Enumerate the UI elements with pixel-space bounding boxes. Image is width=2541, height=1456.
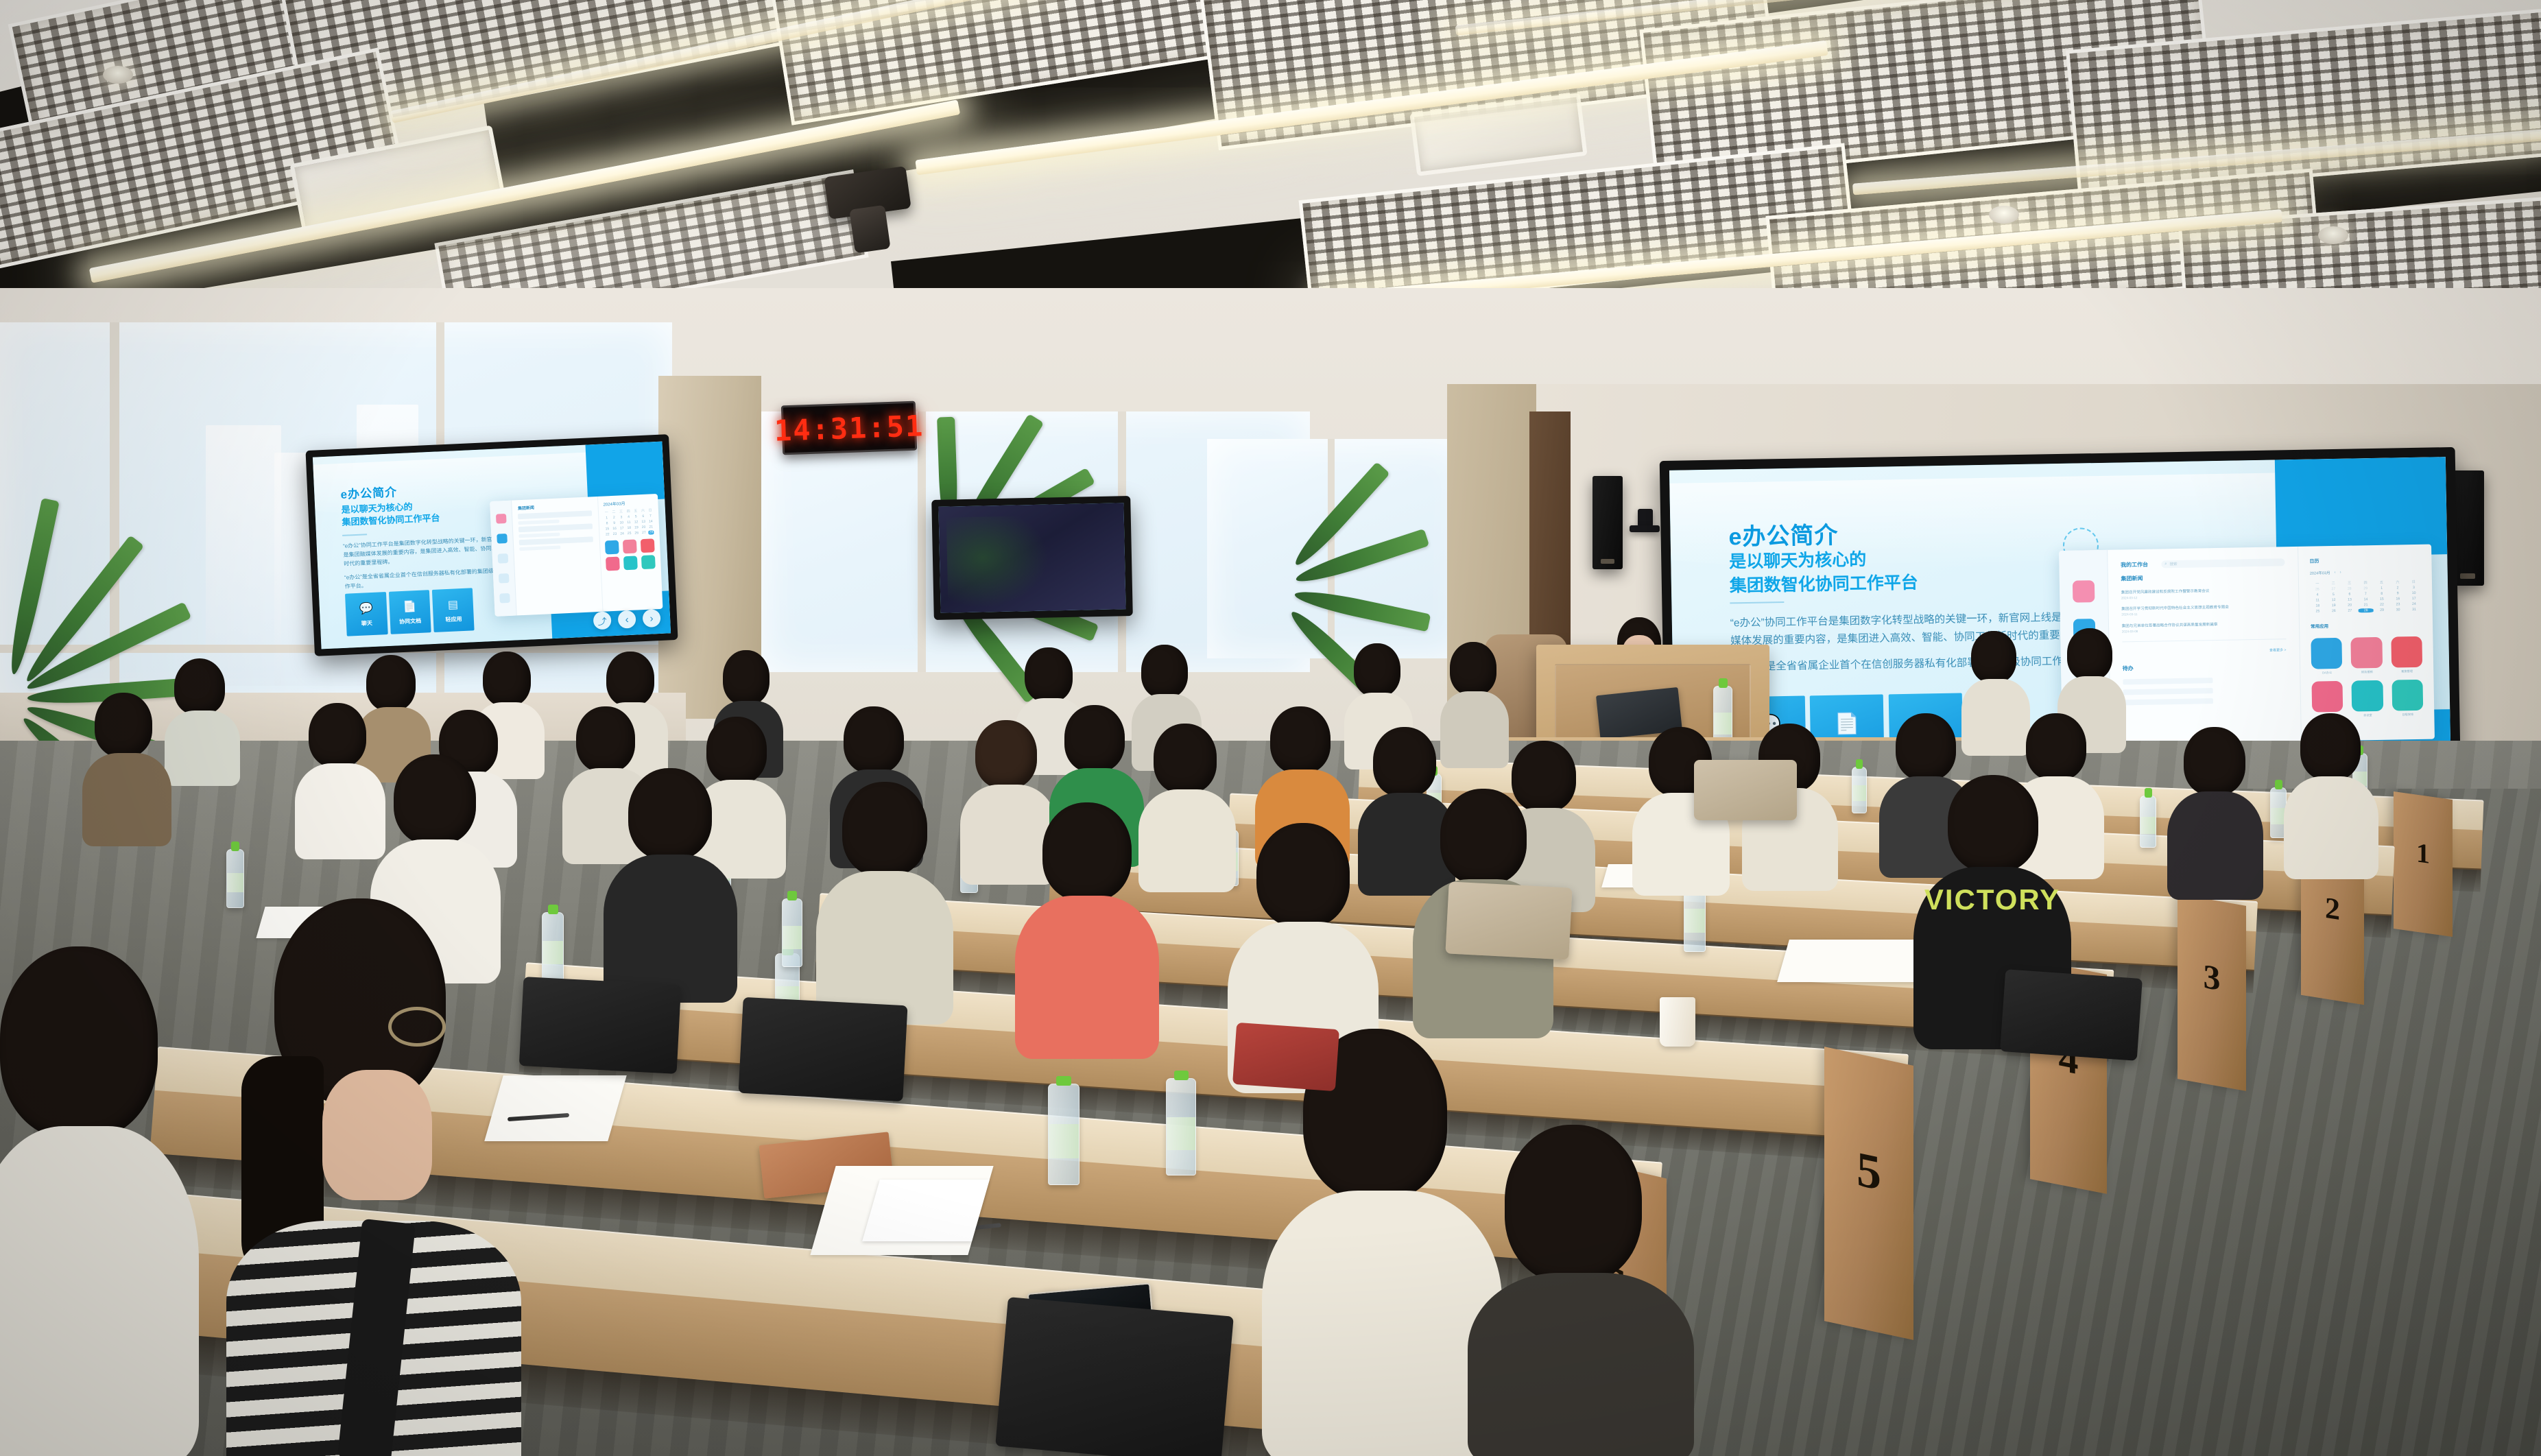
- desk-end-1: 1: [2394, 791, 2453, 937]
- more-news-link[interactable]: 查看更多 >: [2122, 647, 2286, 655]
- app-shortcut[interactable]: 会议室: [2352, 680, 2383, 718]
- face-profile: [322, 1070, 432, 1200]
- app-shortcut-label: 日程安排: [2392, 713, 2423, 717]
- slide-subtitle-line1: 是以聊天为核心的: [1729, 547, 1918, 574]
- chair-back: [1445, 881, 1572, 959]
- ceiling-camera: [1638, 509, 1653, 527]
- audience-member: [2284, 713, 2378, 878]
- calendar-month: 2024年03月: [603, 499, 653, 507]
- app-shortcut[interactable]: [641, 555, 656, 569]
- app-shortcut-label: 差旅管理: [2391, 669, 2422, 674]
- red-chair: [1232, 1023, 1339, 1091]
- workspace-label: 我的工作台: [2121, 560, 2148, 569]
- calendar-grid[interactable]: 一二三四五六日 26272829123 45678910 11121314151…: [2310, 580, 2422, 614]
- app-shortcut[interactable]: [623, 556, 638, 570]
- news-heading: 集团新闻: [518, 501, 592, 511]
- rail-avatar[interactable]: [496, 514, 506, 524]
- slide-feature-tiles: 💬 聊天 📄 协同文档 ▤ 轻应用: [345, 588, 475, 636]
- chair-back: [995, 1297, 1234, 1456]
- calendar-prev-icon[interactable]: ‹: [2335, 571, 2336, 575]
- downlight: [2318, 226, 2348, 244]
- audience-member: [165, 658, 240, 782]
- water-bottle: [782, 898, 802, 967]
- downlight: [1989, 206, 2019, 224]
- rail-icon-contacts[interactable]: [500, 593, 510, 604]
- calendar-heading: 日历: [2309, 556, 2420, 565]
- water-bottle: [542, 912, 564, 983]
- left-monitor-slide: e办公简介 是以聊天为核心的 集团数智化协同工作平台 “e办公”协同工作平台是集…: [313, 442, 671, 649]
- chair-back: [1694, 760, 1797, 820]
- slide-title: e办公简介: [1728, 516, 1839, 551]
- app-shortcut-label: OA办公: [2311, 671, 2342, 676]
- water-bottle: [1166, 1078, 1196, 1175]
- feature-tile-label: 聊天: [361, 619, 372, 628]
- feature-tile[interactable]: 💬 聊天: [345, 592, 387, 636]
- paper-cup: [1660, 997, 1695, 1047]
- app-shortcut[interactable]: 差旅管理: [2391, 636, 2422, 674]
- chat-icon: 💬: [359, 601, 373, 616]
- rail-icon-messages[interactable]: [497, 534, 508, 544]
- audience-member-striped-shirt: [226, 898, 521, 1456]
- audience-member: [1015, 802, 1159, 1056]
- slide-paragraph-1: “e办公”协同工作平台是集团数字化转型战略的关键一环，新官网上线是集团融媒体发展…: [1730, 608, 2103, 649]
- app-shortcut-grid[interactable]: [605, 538, 656, 569]
- audience-member: [2167, 727, 2263, 898]
- training-room-photo: 14:31:51 e办公简介 是以聊天为核心的 集团数智化协同工作平台 “e办公…: [0, 0, 2541, 1456]
- app-shortcut[interactable]: [641, 538, 655, 553]
- app-shortcut[interactable]: [605, 540, 619, 555]
- calendar-grid[interactable]: 一二三四五六日 1234567 891011121314 15161718192…: [604, 508, 654, 537]
- slide-title: e办公简介: [340, 482, 398, 502]
- audience-member: [604, 768, 737, 1001]
- news-item[interactable]: 集团与兄弟单位签署战略合作协议共谋高质量发展新篇章 2024-03-08: [2122, 620, 2286, 633]
- search-icon: ⌕: [2164, 562, 2167, 566]
- apps-icon: ▤: [447, 597, 458, 612]
- news-item[interactable]: 集团召开党风廉政建设和反腐败工作暨警示教育会议 2024-03-12: [2121, 586, 2285, 599]
- todo-heading: 待办: [2123, 662, 2287, 672]
- app-shortcut[interactable]: 日程安排: [2391, 680, 2423, 717]
- app-shortcut[interactable]: [623, 539, 637, 553]
- slide-subtitle: 是以聊天为核心的 集团数智化协同工作平台: [1729, 547, 1918, 598]
- water-bottle: [2140, 796, 2156, 848]
- slide-body: “e办公”协同工作平台是集团数字化转型战略的关键一环，新官网上线是集团融媒体发展…: [343, 535, 513, 596]
- left-wall-monitor[interactable]: e办公简介 是以聊天为核心的 集团数智化协同工作平台 “e办公”协同工作平台是集…: [305, 434, 678, 656]
- audience-member: [82, 693, 171, 844]
- slide-subtitle: 是以聊天为核心的 集团数智化协同工作平台: [341, 499, 440, 528]
- downlight: [103, 66, 133, 84]
- chair-back: [519, 977, 681, 1074]
- rail-icon-workspace[interactable]: [499, 573, 509, 584]
- clock-time: 14:31:51: [774, 409, 924, 448]
- left-wall-speaker: [1592, 476, 1623, 569]
- app-calendar-pane: 2024年03月 一二三四五六日 1234567 891011121314 15…: [597, 494, 663, 612]
- led-wall-clock: 14:31:51: [781, 401, 917, 455]
- slide-body: “e办公”协同工作平台是集团数字化转型战略的关键一环，新官网上线是集团融媒体发展…: [1730, 608, 2104, 684]
- search-input[interactable]: ⌕ 搜索: [2161, 558, 2284, 568]
- feature-tile-label: 轻应用: [445, 615, 462, 623]
- slide-subtitle-line2: 集团数智化协同工作平台: [1730, 571, 1919, 597]
- document-icon: 📄: [1834, 712, 1860, 737]
- center-wall-monitor[interactable]: [931, 496, 1133, 620]
- audience-member: [1468, 1125, 1694, 1456]
- app-shortcut[interactable]: [606, 556, 620, 571]
- chair-back: [2000, 969, 2143, 1061]
- app-shortcut-label: 财务报销: [2352, 670, 2383, 675]
- audience-member: [0, 946, 199, 1456]
- slide-paragraph-1: “e办公”协同工作平台是集团数字化转型战略的关键一环，新官网上线是集团融媒体发展…: [343, 535, 512, 569]
- rail-avatar[interactable]: [2073, 580, 2095, 603]
- eyeglasses: [388, 1007, 446, 1047]
- feature-tile[interactable]: 📄 协同文档: [389, 590, 431, 634]
- apps-heading: 常用应用: [2311, 621, 2422, 630]
- camera-bracket: [1630, 525, 1660, 532]
- app-calendar-pane: 日历 2024年03月 ‹ › 一二三四五六日 26272829123 4567…: [2298, 545, 2435, 741]
- news-item[interactable]: 集团召开学习贯彻新时代中国特色社会主义思想主题教育专题会 2024-03-11: [2121, 604, 2285, 617]
- app-news-pane: 我的工作台 ⌕ 搜索 集团新闻 集团召开党风廉政建设和反腐败工作暨警示教育会议 …: [2108, 547, 2301, 744]
- app-mockup: 集团新闻 2024年03月 一二三四五六日 1234567 8910111213…: [490, 494, 663, 617]
- feature-tile[interactable]: ▤ 轻应用: [432, 588, 475, 633]
- app-news-pane: 集团新闻: [512, 497, 602, 615]
- search-placeholder: 搜索: [2170, 561, 2178, 566]
- app-shortcut[interactable]: OA办公: [2311, 638, 2342, 676]
- calendar-month: 2024年03月: [2310, 570, 2330, 576]
- document-icon: 📄: [403, 599, 417, 614]
- victory-shirt-text: VICTORY: [1924, 883, 2060, 916]
- chair-back: [739, 997, 908, 1101]
- rail-icon-documents[interactable]: [498, 553, 508, 564]
- audience-member: [1262, 1029, 1502, 1456]
- note-paper: [862, 1180, 990, 1241]
- water-bottle: [1048, 1084, 1079, 1185]
- calendar-next-icon[interactable]: ›: [2340, 571, 2341, 575]
- feature-tile-label: 协同文档: [399, 617, 421, 625]
- news-heading: 集团新闻: [2121, 573, 2284, 583]
- water-bottle: [1852, 767, 1867, 813]
- app-shortcut[interactable]: 财务报销: [2351, 637, 2383, 675]
- slide-paragraph-2: “e办公”是全省省属企业首个在信创服务器私有化部署的集团级协同工作平台。: [344, 566, 513, 591]
- audience-member: [816, 782, 953, 1022]
- slide-paragraph-2: “e办公”是全省省属企业首个在信创服务器私有化部署的集团级协同工作平台。: [1731, 652, 2104, 676]
- desk-end-3: 3: [2178, 894, 2246, 1091]
- app-shortcut-grid[interactable]: OA办公 财务报销 差旅管理: [2311, 636, 2423, 713]
- center-monitor-dark-screen: [938, 503, 1125, 613]
- desk-end-5: 5: [1824, 1047, 1913, 1340]
